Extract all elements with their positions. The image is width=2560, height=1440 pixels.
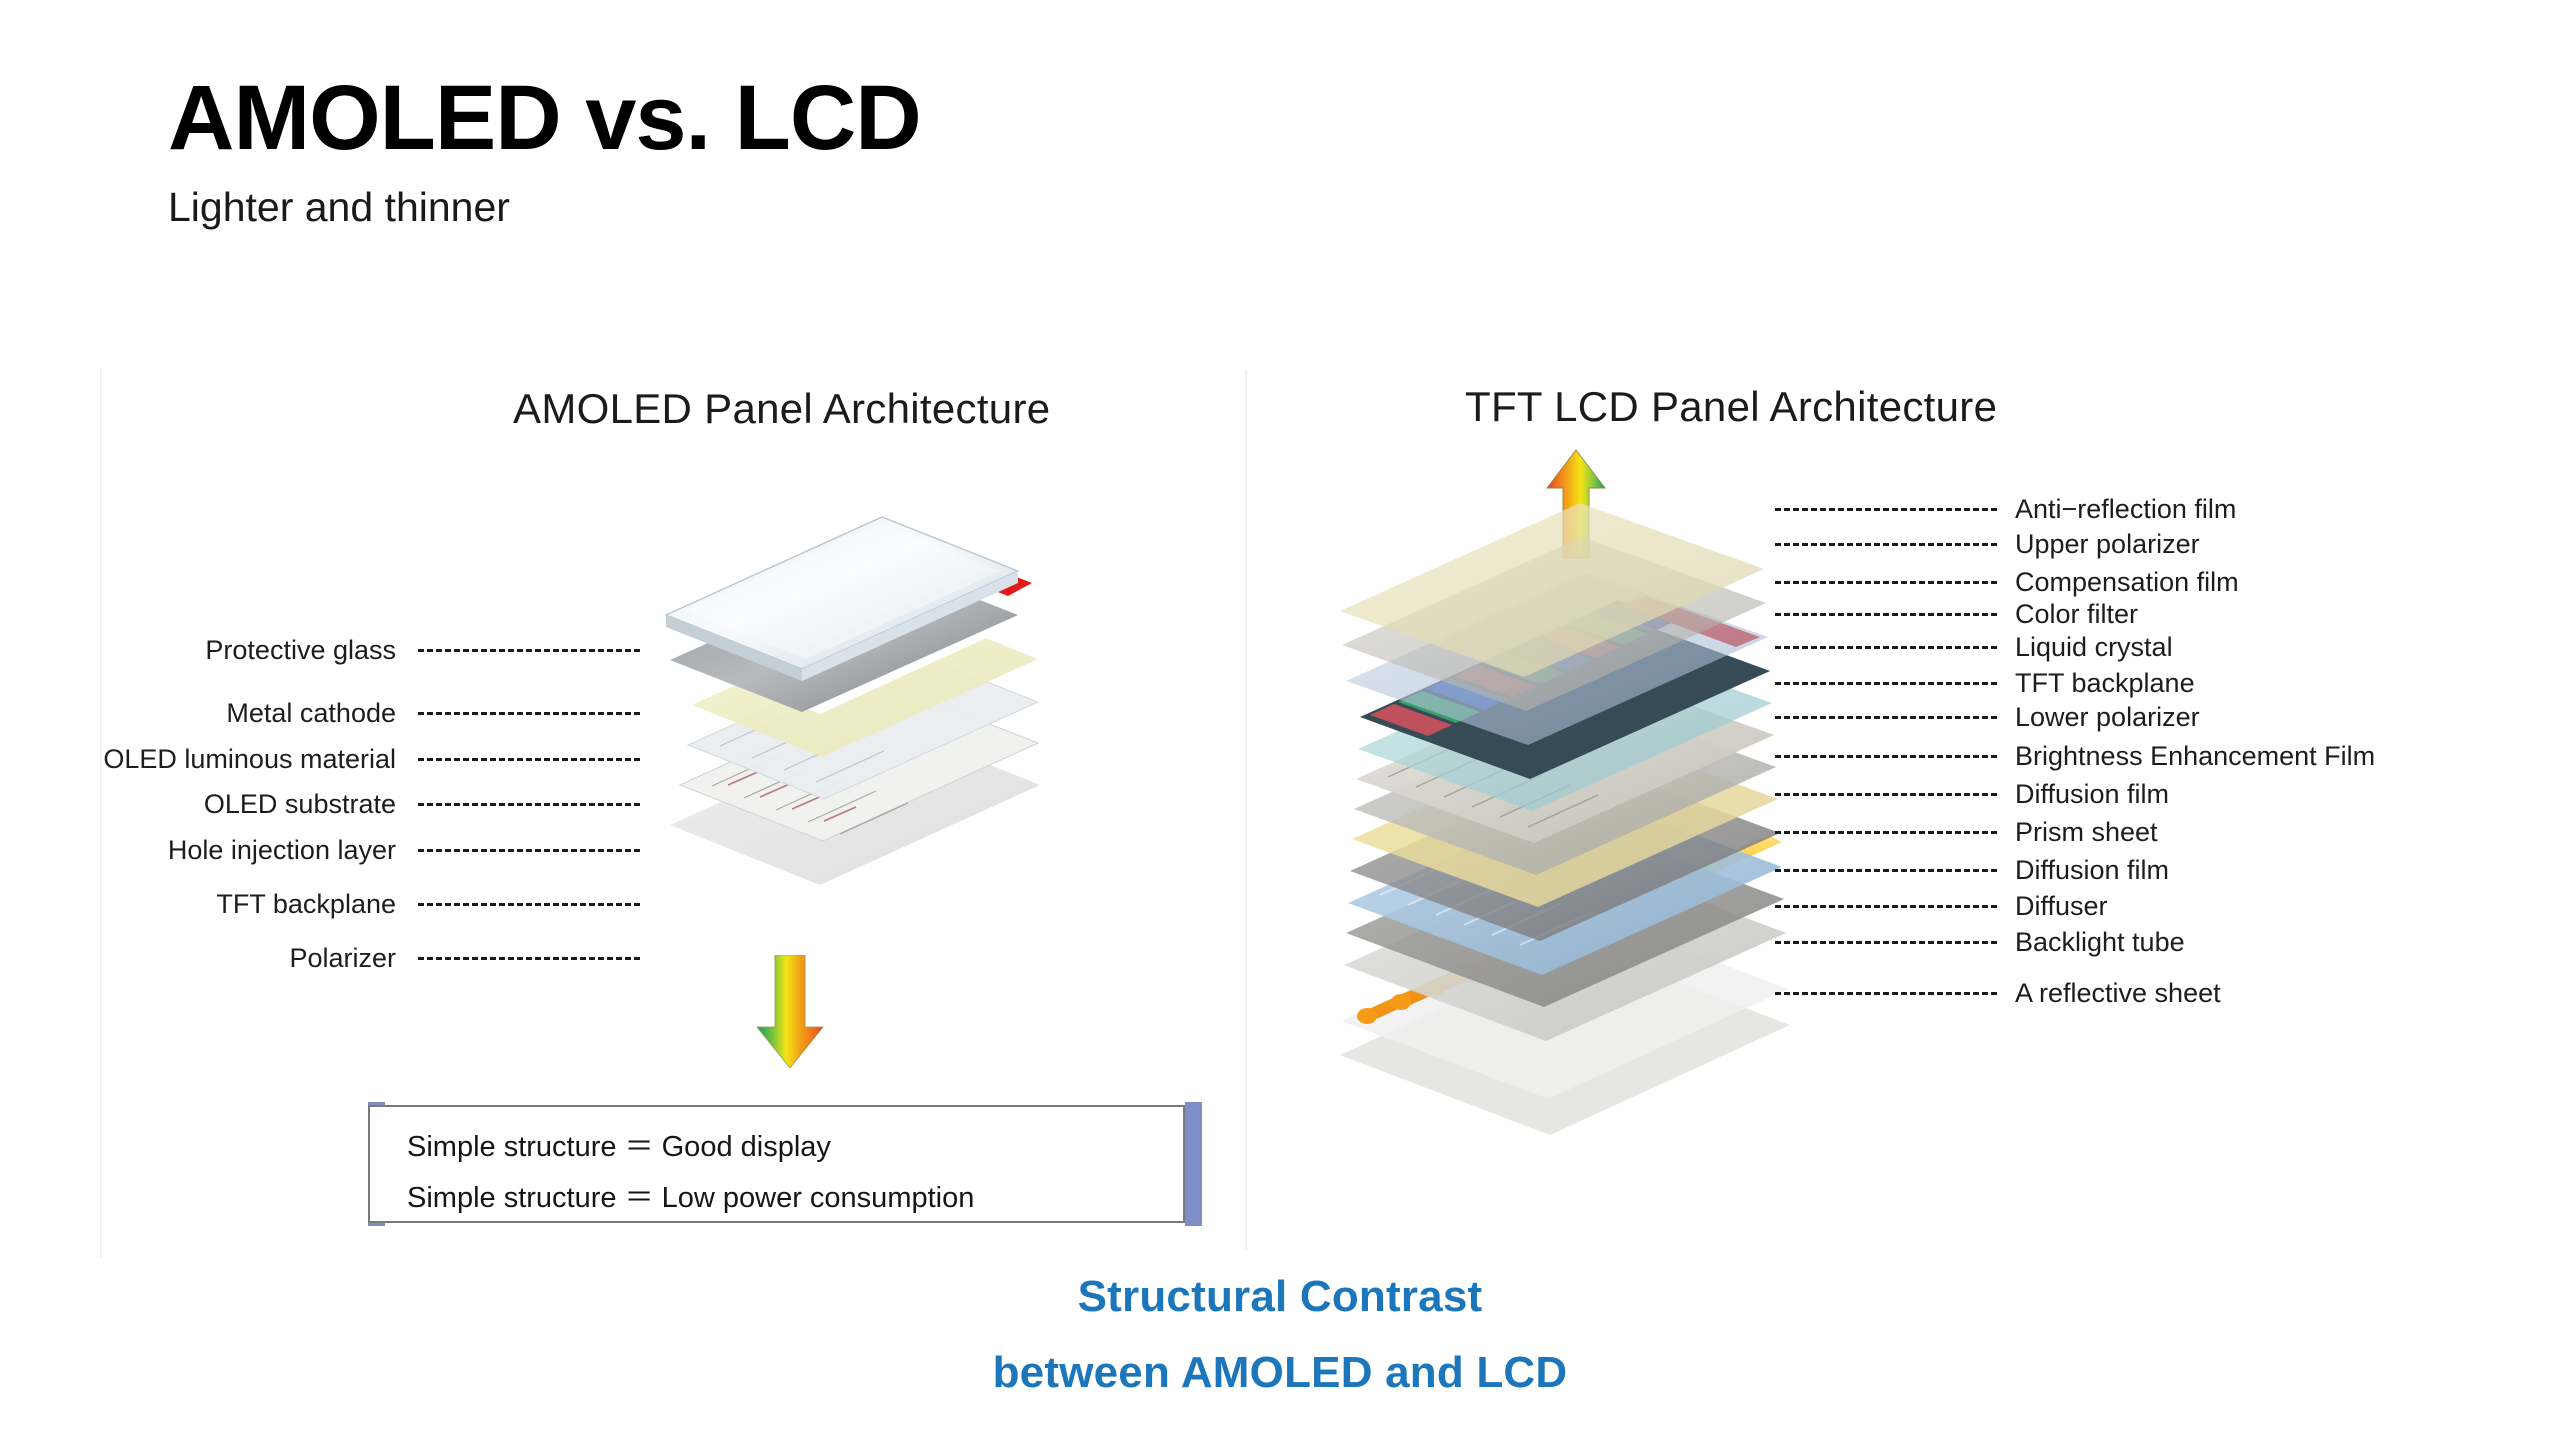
lcd-label-row-12: Backlight tube <box>1775 928 2185 956</box>
amoled-label-row-6: Polarizer <box>0 944 640 972</box>
lcd-label-row-5: TFT backplane <box>1775 669 2195 697</box>
leader-dash-icon <box>418 903 640 906</box>
amoled-label-polarizer: Polarizer <box>289 945 396 972</box>
caption-line-between-amoled-lcd: between AMOLED and LCD <box>0 1348 2560 1398</box>
leader-dash-icon <box>1775 508 1997 511</box>
callout-box: Simple structure ＝ Good display Simple s… <box>368 1105 1185 1223</box>
lcd-label-row-10: Diffusion film <box>1775 856 2169 884</box>
leader-dash-icon <box>1775 543 1997 546</box>
lcd-label-color-filter: Color filter <box>2015 601 2138 628</box>
leader-dash-icon <box>1775 716 1997 719</box>
lcd-label-liquid-crystal: Liquid crystal <box>2015 634 2173 661</box>
lcd-stack-svg <box>1330 465 1800 1135</box>
amoled-stack-illustration <box>640 455 1060 935</box>
leader-dash-icon <box>418 957 640 960</box>
page-subtitle: Lighter and thinner <box>168 184 510 231</box>
lcd-label-row-7: Brightness Enhancement Film <box>1775 742 2375 770</box>
lcd-label-reflective-sheet: A reflective sheet <box>2015 980 2221 1007</box>
down-arrow-icon <box>755 955 825 1070</box>
lcd-label-row-11: Diffuser <box>1775 892 2108 920</box>
leader-dash-icon <box>418 758 640 761</box>
amoled-label-oled-luminous-material: OLED luminous material <box>103 746 396 773</box>
lcd-label-row-3: Color filter <box>1775 600 2138 628</box>
lcd-label-row-6: Lower polarizer <box>1775 703 2200 731</box>
lcd-label-diffuser: Diffuser <box>2015 893 2108 920</box>
amoled-label-row-2: OLED luminous material <box>0 745 640 773</box>
callout-line-low-power: Simple structure ＝ Low power consumption <box>407 1184 974 1213</box>
amoled-label-row-4: Hole injection layer <box>0 836 640 864</box>
leader-dash-icon <box>1775 755 1997 758</box>
amoled-panel-heading: AMOLED Panel Architecture <box>513 385 1050 433</box>
lcd-label-lower-polarizer: Lower polarizer <box>2015 704 2200 731</box>
lcd-label-row-0: Anti−reflection film <box>1775 495 2236 523</box>
lcd-stack-illustration <box>1330 465 1800 1135</box>
leader-dash-icon <box>1775 869 1997 872</box>
lcd-label-row-8: Diffusion film <box>1775 780 2169 808</box>
lcd-label-anti-reflection-film: Anti−reflection film <box>2015 496 2236 523</box>
lcd-label-row-2: Compensation film <box>1775 568 2239 596</box>
amoled-label-row-0: Protective glass <box>0 636 640 664</box>
leader-dash-icon <box>418 649 640 652</box>
page-title: AMOLED vs. LCD <box>168 72 921 164</box>
callout-line-good-display: Simple structure ＝ Good display <box>407 1133 831 1162</box>
lcd-label-upper-polarizer: Upper polarizer <box>2015 531 2200 558</box>
amoled-stack-svg <box>640 455 1060 935</box>
panel-divider <box>1245 370 1247 1250</box>
amoled-label-metal-cathode: Metal cathode <box>226 700 396 727</box>
lcd-label-row-4: Liquid crystal <box>1775 633 2173 661</box>
leader-dash-icon <box>1775 793 1997 796</box>
leader-dash-icon <box>1775 682 1997 685</box>
callout-right-bar <box>1185 1102 1202 1226</box>
slide-canvas: AMOLED vs. LCD Lighter and thinner AMOLE… <box>0 0 2560 1440</box>
amoled-label-row-5: TFT backplane <box>0 890 640 918</box>
amoled-label-oled-substrate: OLED substrate <box>204 791 396 818</box>
leader-dash-icon <box>418 803 640 806</box>
lcd-label-brightness-enhancement-film: Brightness Enhancement Film <box>2015 743 2375 770</box>
lcd-label-tft-backplane: TFT backplane <box>2015 670 2195 697</box>
lcd-label-backlight-tube: Backlight tube <box>2015 929 2185 956</box>
lcd-label-diffusion-film-upper: Diffusion film <box>2015 781 2169 808</box>
lcd-label-prism-sheet: Prism sheet <box>2015 819 2158 846</box>
leader-dash-icon <box>1775 613 1997 616</box>
lcd-label-diffusion-film-lower: Diffusion film <box>2015 857 2169 884</box>
caption-line-structural-contrast: Structural Contrast <box>0 1272 2560 1322</box>
amoled-label-row-3: OLED substrate <box>0 790 640 818</box>
leader-dash-icon <box>1775 905 1997 908</box>
amoled-label-tft-backplane: TFT backplane <box>216 891 396 918</box>
leader-dash-icon <box>1775 646 1997 649</box>
lcd-label-row-9: Prism sheet <box>1775 818 2158 846</box>
amoled-label-row-1: Metal cathode <box>0 699 640 727</box>
lcd-label-row-1: Upper polarizer <box>1775 530 2200 558</box>
amoled-label-hole-injection-layer: Hole injection layer <box>168 837 396 864</box>
amoled-light-direction-arrow <box>755 955 825 1070</box>
leader-dash-icon <box>418 849 640 852</box>
leader-dash-icon <box>1775 581 1997 584</box>
leader-dash-icon <box>1775 992 1997 995</box>
amoled-label-protective-glass: Protective glass <box>205 637 396 664</box>
leader-dash-icon <box>1775 941 1997 944</box>
lcd-panel-heading: TFT LCD Panel Architecture <box>1465 383 1997 431</box>
leader-dash-icon <box>1775 831 1997 834</box>
lcd-label-row-13: A reflective sheet <box>1775 979 2221 1007</box>
leader-dash-icon <box>418 712 640 715</box>
lcd-label-compensation-film: Compensation film <box>2015 569 2239 596</box>
